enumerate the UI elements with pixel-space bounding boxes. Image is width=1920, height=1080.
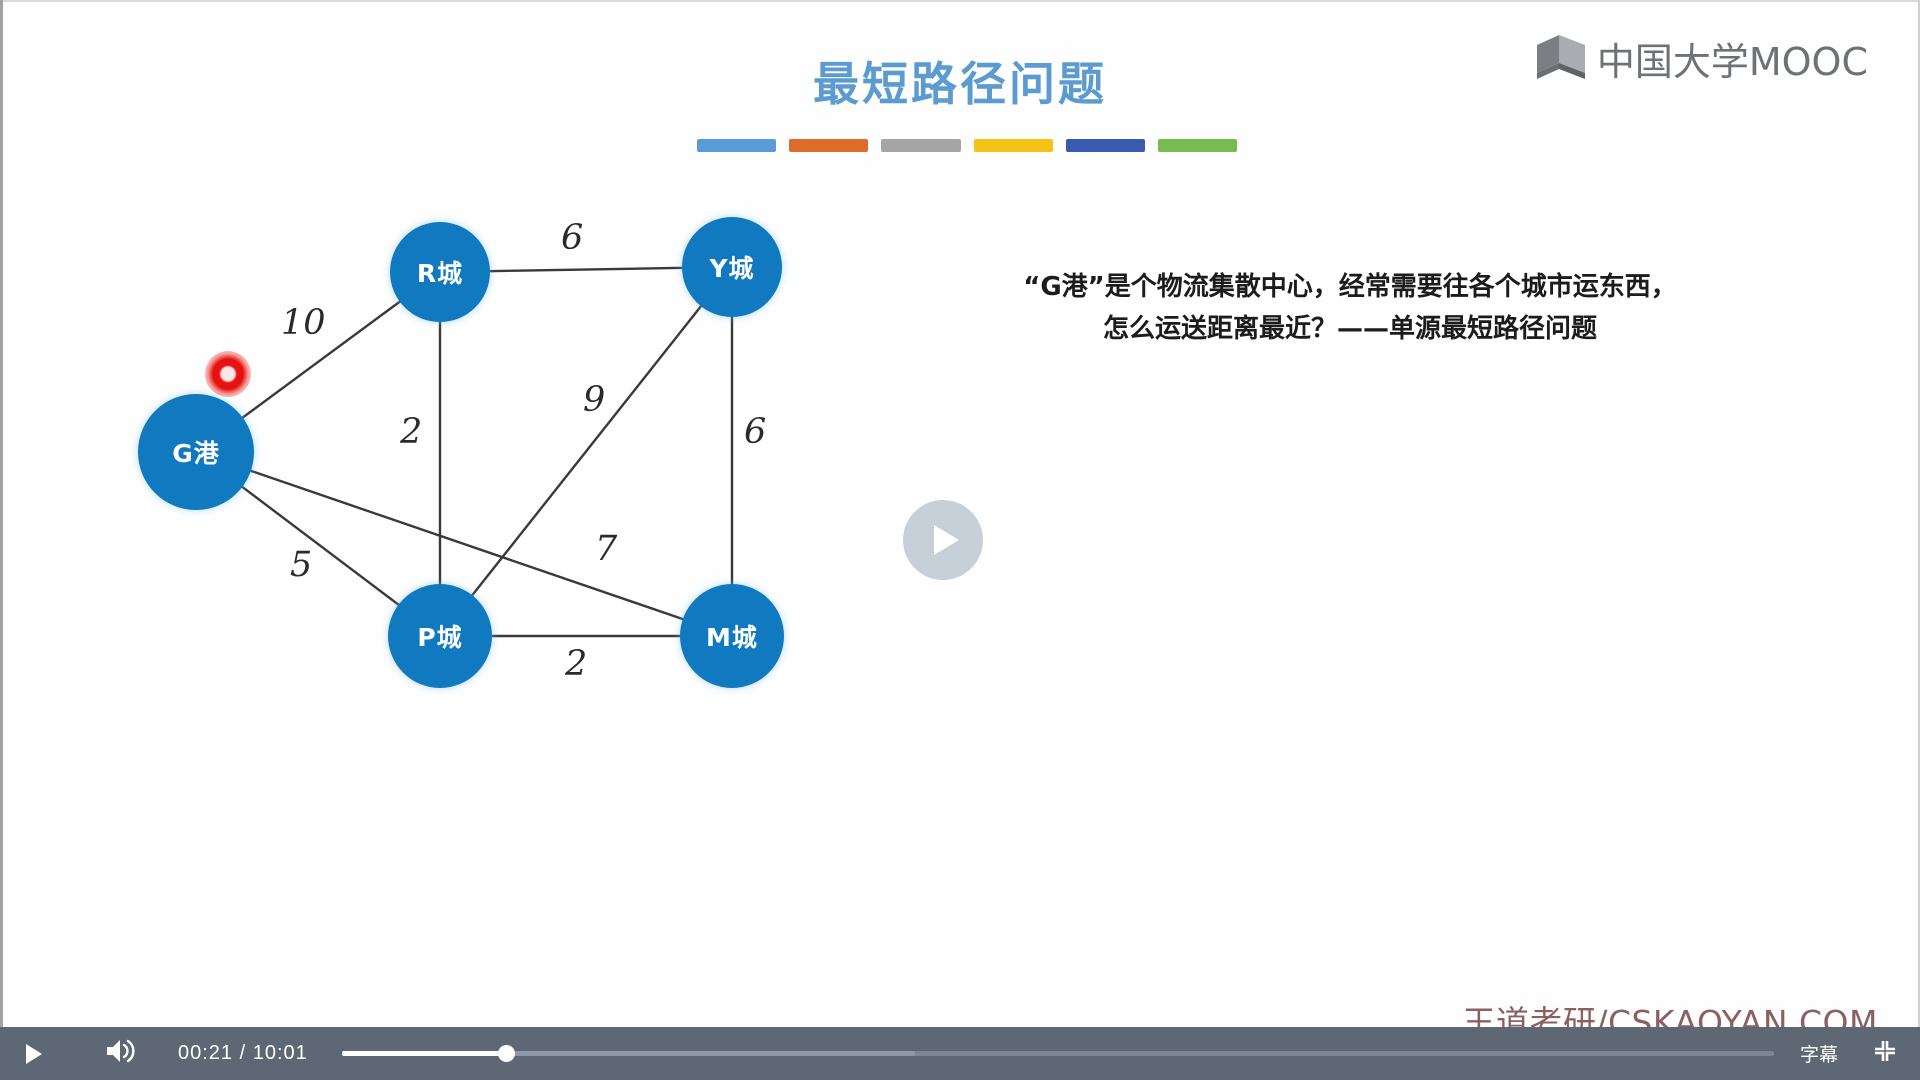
- play-button[interactable]: [6, 1027, 62, 1080]
- slide-caption: “G港”是个物流集散中心，经常需要往各个城市运东西， 怎么运送距离最近？——单源…: [960, 266, 1740, 350]
- frame-edge-top: [0, 0, 1920, 2]
- edge-weight-G-P: 5: [290, 545, 312, 585]
- edge-weight-G-R: 10: [281, 303, 326, 343]
- graph-edge-G-P: [241, 486, 400, 606]
- title-accent-bars: [697, 139, 1237, 152]
- mooc-logo-text: 中国大学MOOC: [1597, 31, 1868, 86]
- bar-yellow: [974, 139, 1053, 152]
- graph-node-M: M城: [680, 584, 784, 688]
- edge-weight-G-M: 7: [595, 529, 617, 569]
- edge-weight-Y-M: 6: [744, 412, 766, 452]
- mooc-logo: 中国大学MOOC: [1535, 32, 1868, 84]
- volume-icon: [105, 1038, 135, 1069]
- book-logo-icon: [1535, 33, 1587, 84]
- bar-light-blue: [697, 139, 776, 152]
- red-click-marker: [205, 351, 251, 397]
- player-control-bar: 00:21 / 10:01 字幕: [0, 1027, 1920, 1080]
- bar-green: [1158, 139, 1237, 152]
- time-display: 00:21 / 10:01: [178, 1042, 308, 1065]
- edge-weight-R-Y: 6: [561, 218, 583, 258]
- edge-weight-P-M: 2: [565, 644, 587, 684]
- play-icon: [26, 1044, 42, 1064]
- progress-played: [342, 1051, 507, 1056]
- graph-node-Y: Y城: [682, 217, 782, 317]
- progress-slider[interactable]: [342, 1051, 1774, 1057]
- graph-edge-Y-P: [471, 305, 702, 597]
- bar-dark-blue: [1066, 139, 1145, 152]
- subtitle-button[interactable]: 字幕: [1800, 1040, 1838, 1067]
- video-player: 最短路径问题 中国大学MOOC G港R城Y城P城M城: [0, 0, 1920, 1080]
- frame-edge-left: [0, 0, 3, 1080]
- caption-line-2: 怎么运送距离最近？——单源最短路径问题: [960, 308, 1740, 350]
- fullscreen-button[interactable]: [1860, 1027, 1910, 1080]
- play-triangle-icon: [934, 525, 959, 555]
- bar-orange: [789, 139, 868, 152]
- progress-knob[interactable]: [498, 1045, 515, 1062]
- center-play-button[interactable]: [903, 500, 983, 580]
- graph-node-G: G港: [138, 394, 254, 510]
- edge-weight-Y-P: 9: [583, 380, 605, 420]
- graph-node-R: R城: [390, 222, 490, 322]
- graph-edge-R-Y: [488, 268, 684, 271]
- bar-gray: [881, 139, 960, 152]
- caption-line-1: “G港”是个物流集散中心，经常需要往各个城市运东西，: [960, 266, 1740, 308]
- exit-fullscreen-icon: [1873, 1039, 1897, 1068]
- edge-weight-R-P: 2: [400, 412, 422, 452]
- volume-button[interactable]: [92, 1027, 148, 1080]
- graph-node-P: P城: [388, 584, 492, 688]
